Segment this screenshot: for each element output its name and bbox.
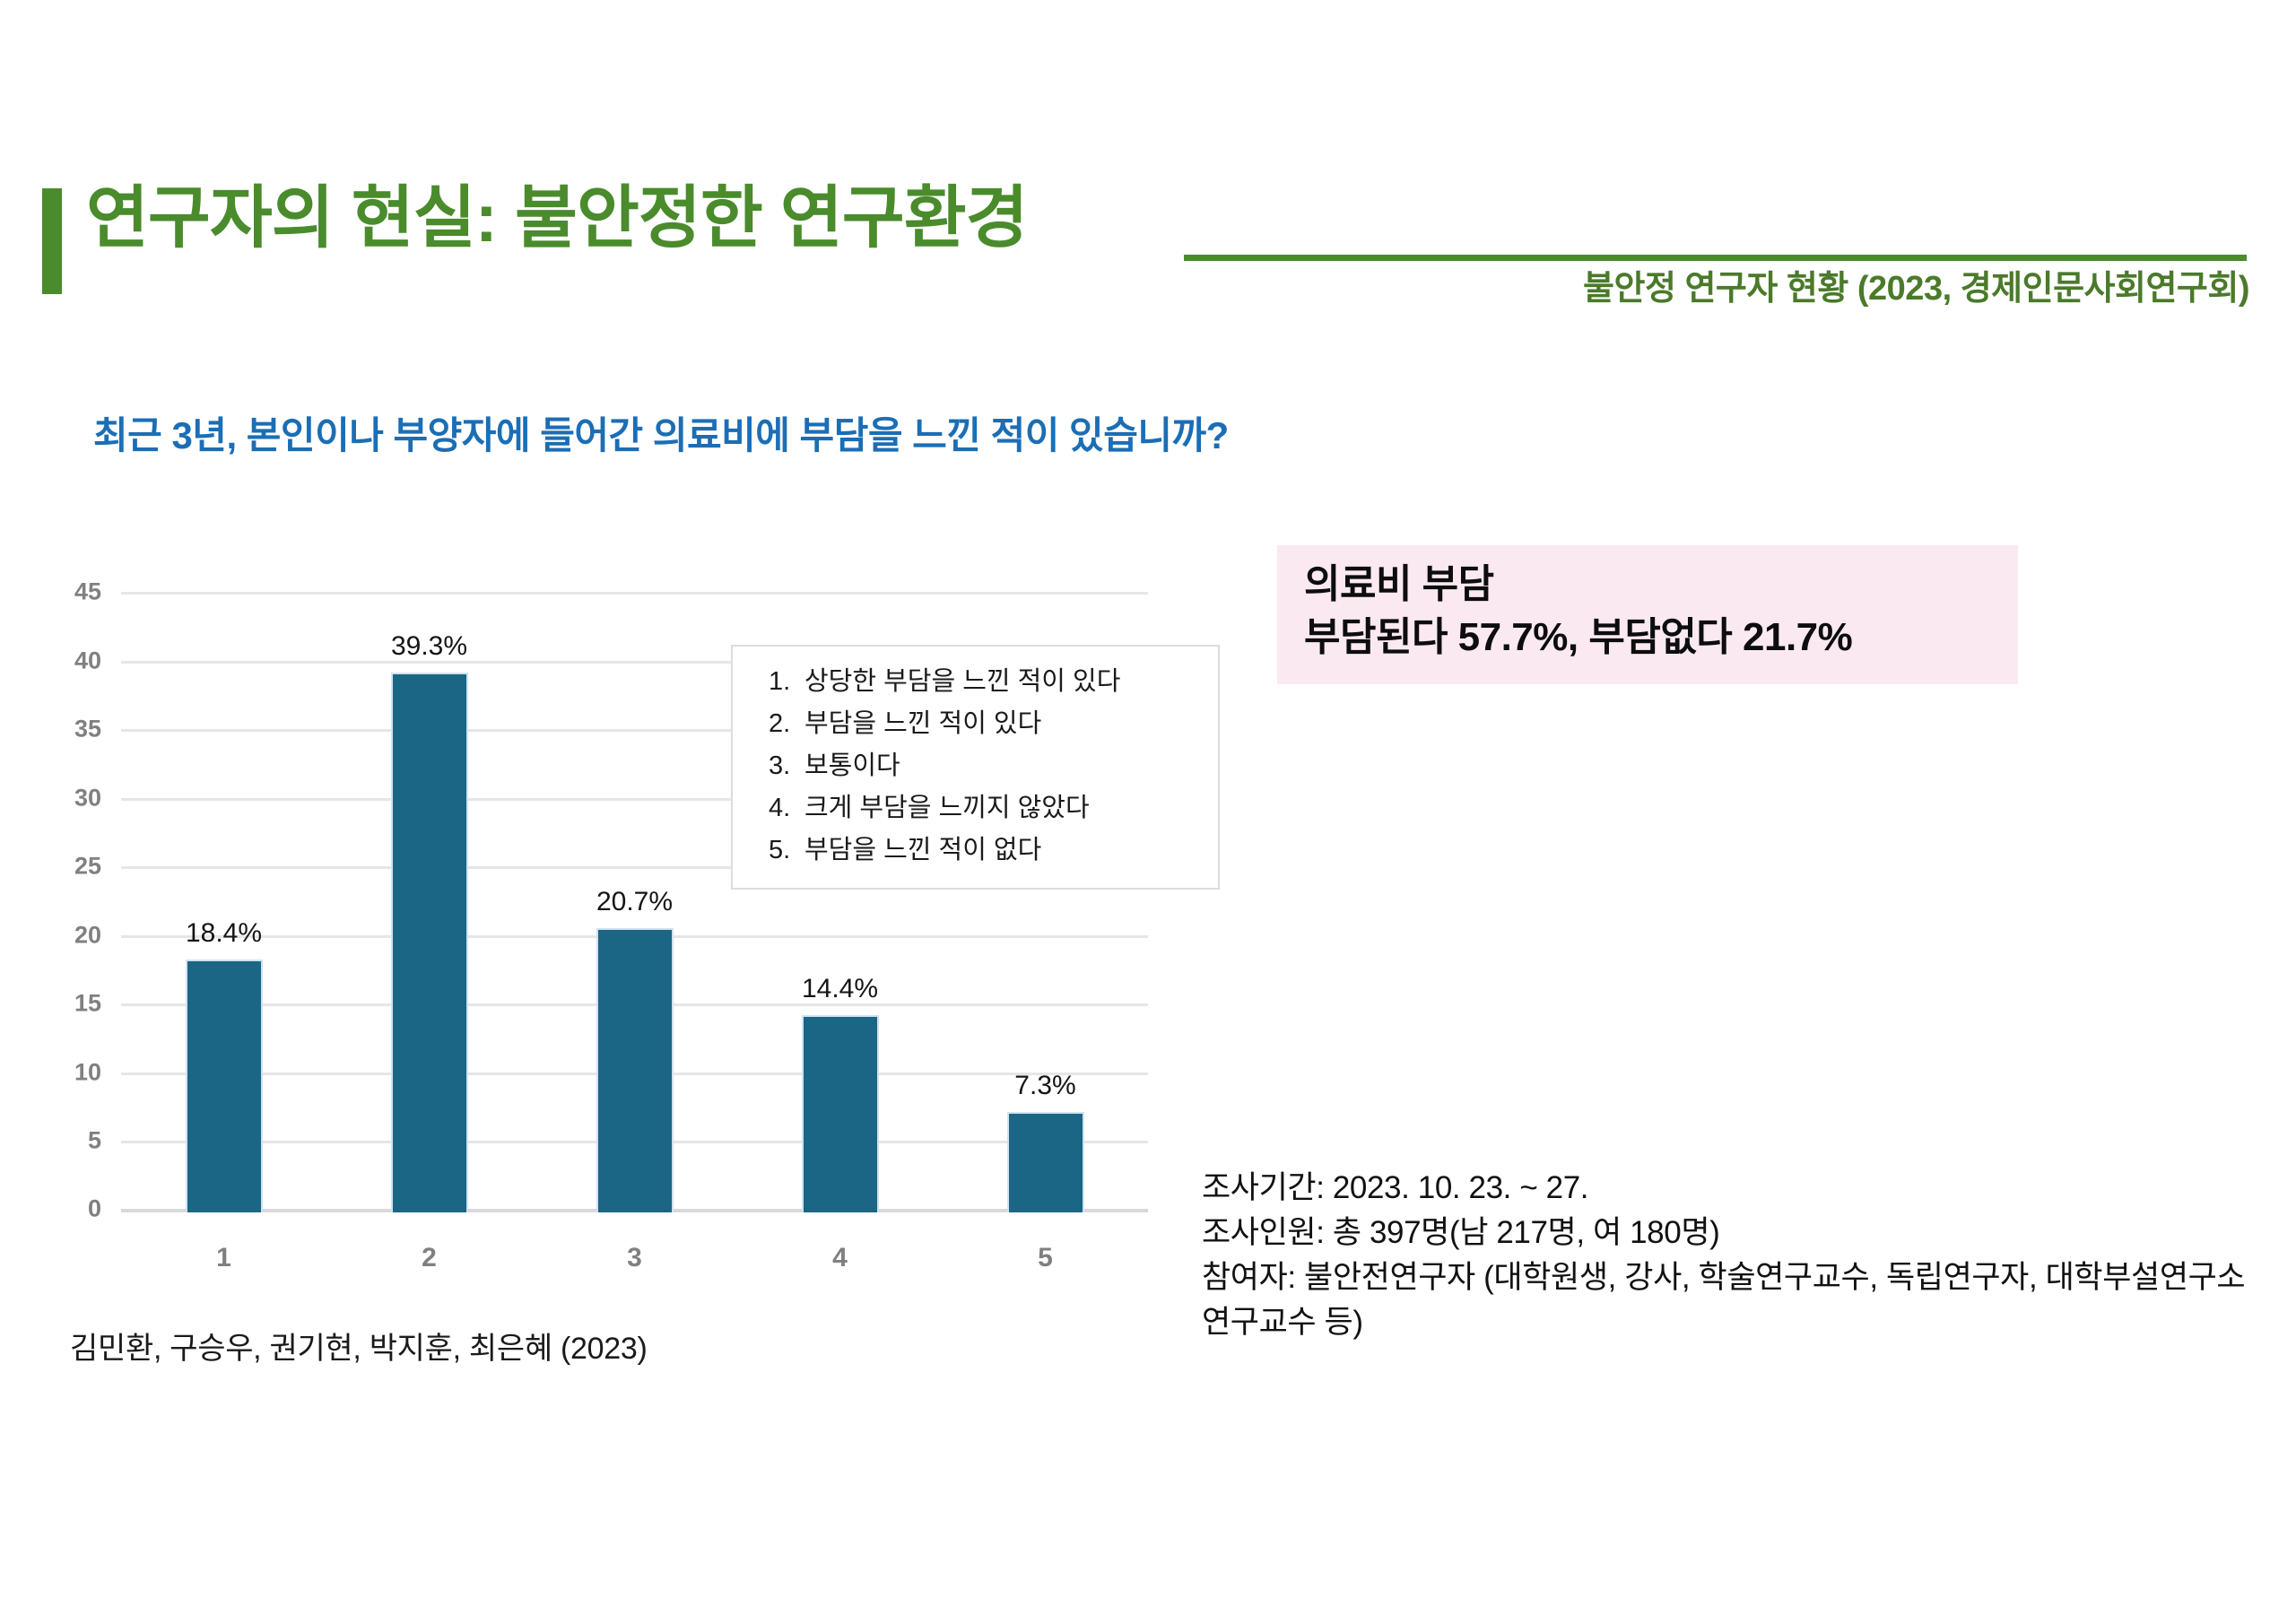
xtick-label: 4 (832, 1243, 848, 1273)
page-title: 연구자의 현실: 불안정한 연구환경 (86, 176, 1028, 261)
legend-item: 4. 크게 부담을 느끼지 않았다 (733, 787, 1218, 829)
xtick-label: 3 (627, 1243, 642, 1273)
legend-item: 5. 부담을 느낀 적이 없다 (733, 829, 1218, 872)
legend-item-number: 1. (749, 661, 804, 703)
legend-item: 2. 부담을 느낀 적이 있다 (733, 703, 1218, 745)
bar-slot: 39.3% 2 (326, 595, 532, 1212)
legend-item-label: 상당한 부담을 느낀 적이 있다 (804, 661, 1202, 703)
xtick-label: 1 (216, 1243, 231, 1273)
legend-item-label: 부담을 느낀 적이 없다 (804, 829, 1202, 872)
header-source-caption: 불안정 연구자 현황 (2023, 경제인문사회연구회) (1583, 260, 2249, 309)
legend-item: 3. 보통이다 (733, 745, 1218, 787)
ytick-label: 0 (88, 1195, 101, 1223)
callout-summary: 부담된다 57.7%, 부담없다 21.7% (1304, 611, 1995, 664)
legend-item: 1. 상당한 부담을 느낀 적이 있다 (733, 661, 1218, 703)
chart-legend: 1. 상당한 부담을 느낀 적이 있다 2. 부담을 느낀 적이 있다 3. 보… (731, 645, 1220, 890)
bar-value-label: 7.3% (1014, 1071, 1075, 1101)
bar-value-label: 14.4% (802, 974, 878, 1004)
ytick-label: 40 (74, 647, 101, 674)
highlight-callout: 의료비 부담 부담된다 57.7%, 부담없다 21.7% (1277, 545, 2018, 684)
legend-item-number: 5. (749, 829, 804, 872)
bar[interactable] (1007, 1112, 1084, 1212)
bar[interactable] (391, 673, 468, 1212)
chart-citation: 김민환, 구승우, 권기현, 박지훈, 최은혜 (2023) (70, 1324, 648, 1368)
bar-value-label: 39.3% (391, 631, 467, 662)
legend-item-label: 부담을 느낀 적이 있다 (804, 703, 1202, 745)
bar-value-label: 18.4% (186, 918, 262, 949)
survey-question: 최근 3년, 본인이나 부양자에 들어간 의료비에 부담을 느낀 적이 있습니까… (93, 405, 1229, 460)
xtick-label: 2 (422, 1243, 437, 1273)
bar[interactable] (186, 960, 263, 1212)
ytick-label: 5 (88, 1127, 101, 1155)
ytick-label: 25 (74, 853, 101, 881)
chart-plot-area: 45 40 35 30 25 20 15 10 (121, 595, 1148, 1212)
survey-respondents: 조사인원: 총 397명(남 217명, 여 180명) (1202, 1211, 2260, 1255)
xtick-label: 5 (1038, 1243, 1053, 1273)
ytick-label: 30 (74, 784, 101, 812)
survey-period: 조사기간: 2023. 10. 23. ~ 27. (1202, 1166, 2260, 1211)
survey-metadata: 조사기간: 2023. 10. 23. ~ 27. 조사인원: 총 397명(남… (1202, 1166, 2260, 1345)
legend-item-number: 4. (749, 787, 804, 829)
legend-item-label: 보통이다 (804, 745, 1202, 787)
bar-chart: 45 40 35 30 25 20 15 10 (54, 574, 1166, 1291)
ytick-label: 10 (74, 1058, 101, 1086)
bar-slot: 20.7% 3 (532, 595, 737, 1212)
legend-item-number: 2. (749, 703, 804, 745)
ytick-label: 15 (74, 990, 101, 1018)
ytick-label: 20 (74, 921, 101, 949)
bar[interactable] (596, 928, 674, 1212)
bar[interactable] (802, 1015, 879, 1212)
ytick-label: 35 (74, 716, 101, 743)
callout-heading: 의료비 부담 (1304, 558, 1995, 611)
bar-value-label: 20.7% (596, 887, 673, 917)
ytick-label: 45 (74, 578, 101, 606)
title-accent-bar (42, 188, 62, 294)
slide-root: 연구자의 현실: 불안정한 연구환경 불안정 연구자 현황 (2023, 경제인… (0, 0, 2296, 1624)
survey-participants: 참여자: 불안전연구자 (대학원생, 강사, 학술연구교수, 독립연구자, 대학… (1202, 1255, 2260, 1345)
legend-item-number: 3. (749, 745, 804, 787)
legend-item-label: 크게 부담을 느끼지 않았다 (804, 787, 1202, 829)
bar-slot: 18.4% 1 (121, 595, 326, 1212)
